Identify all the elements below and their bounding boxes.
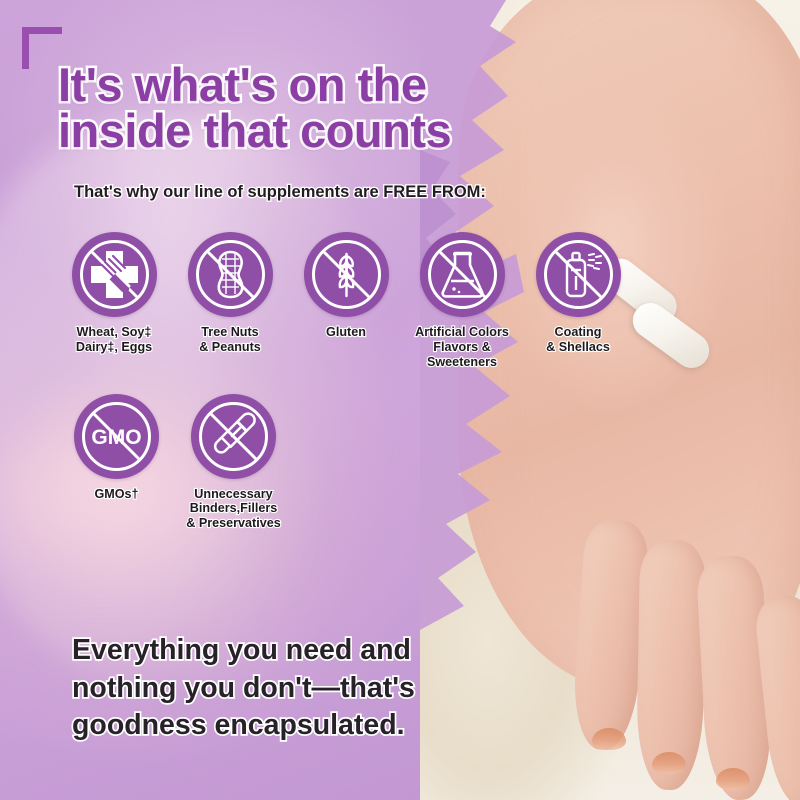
page-title: It's what's on the inside that counts: [58, 62, 618, 154]
free-from-item-binders-fillers[interactable]: Unnecessary Binders,Fillers & Preservati…: [175, 394, 292, 532]
free-from-item-wheat-soy-dairy-eggs[interactable]: Wheat, Soy‡ Dairy‡, Eggs: [56, 232, 172, 355]
free-from-label: Wheat, Soy‡ Dairy‡, Eggs: [76, 325, 152, 355]
footer-line-1: Everything you need and: [72, 632, 492, 670]
free-from-icon-grid: Wheat, Soy‡ Dairy‡, Eggs: [56, 232, 636, 531]
no-wheat-stalk-icon: [304, 232, 389, 317]
free-from-item-gluten[interactable]: Gluten: [288, 232, 404, 340]
no-peanut-icon: [188, 232, 273, 317]
free-from-label: Artificial Colors Flavors & Sweeteners: [415, 325, 509, 370]
free-from-item-coating-shellacs[interactable]: Coating & Shellacs: [520, 232, 636, 355]
footer-line-3: goodness encapsulated.: [72, 707, 492, 745]
no-gmo-icon: GMO: [74, 394, 159, 479]
fingernail-2: [652, 752, 686, 774]
no-flask-icon: [420, 232, 505, 317]
free-from-row-1: Wheat, Soy‡ Dairy‡, Eggs: [56, 232, 636, 370]
free-from-row-2: GMO GMOs†: [58, 394, 636, 532]
footer-line-2: nothing you don't—that's: [72, 670, 492, 708]
fingernail-3: [716, 768, 750, 790]
headline-line-2: inside that counts: [58, 108, 618, 154]
gmo-badge-text: GMO: [91, 426, 141, 449]
free-from-item-tree-nuts-peanuts[interactable]: Tree Nuts & Peanuts: [172, 232, 288, 355]
free-from-label: Unnecessary Binders,Fillers & Preservati…: [186, 487, 281, 532]
corner-bracket-horizontal: [22, 27, 62, 34]
headline-line-1: It's what's on the: [58, 62, 618, 108]
supplement-free-from-infographic: It's what's on the inside that counts Th…: [0, 0, 800, 800]
free-from-item-gmos[interactable]: GMO GMOs†: [58, 394, 175, 502]
footer-copy: Everything you need and nothing you don'…: [72, 632, 492, 745]
subheadline: That's why our line of supplements are F…: [74, 183, 486, 202]
no-spray-can-icon: [536, 232, 621, 317]
free-from-label: Tree Nuts & Peanuts: [199, 325, 261, 355]
free-from-label: Gluten: [326, 325, 366, 340]
free-from-item-artificial-colors[interactable]: Artificial Colors Flavors & Sweeteners: [404, 232, 520, 370]
no-dropper-icon: [191, 394, 276, 479]
free-from-label: GMOs†: [94, 487, 138, 502]
no-allergen-fork-cross-icon: [72, 232, 157, 317]
fingernail-1: [592, 728, 626, 750]
free-from-label: Coating & Shellacs: [546, 325, 610, 355]
corner-bracket: [22, 27, 62, 69]
